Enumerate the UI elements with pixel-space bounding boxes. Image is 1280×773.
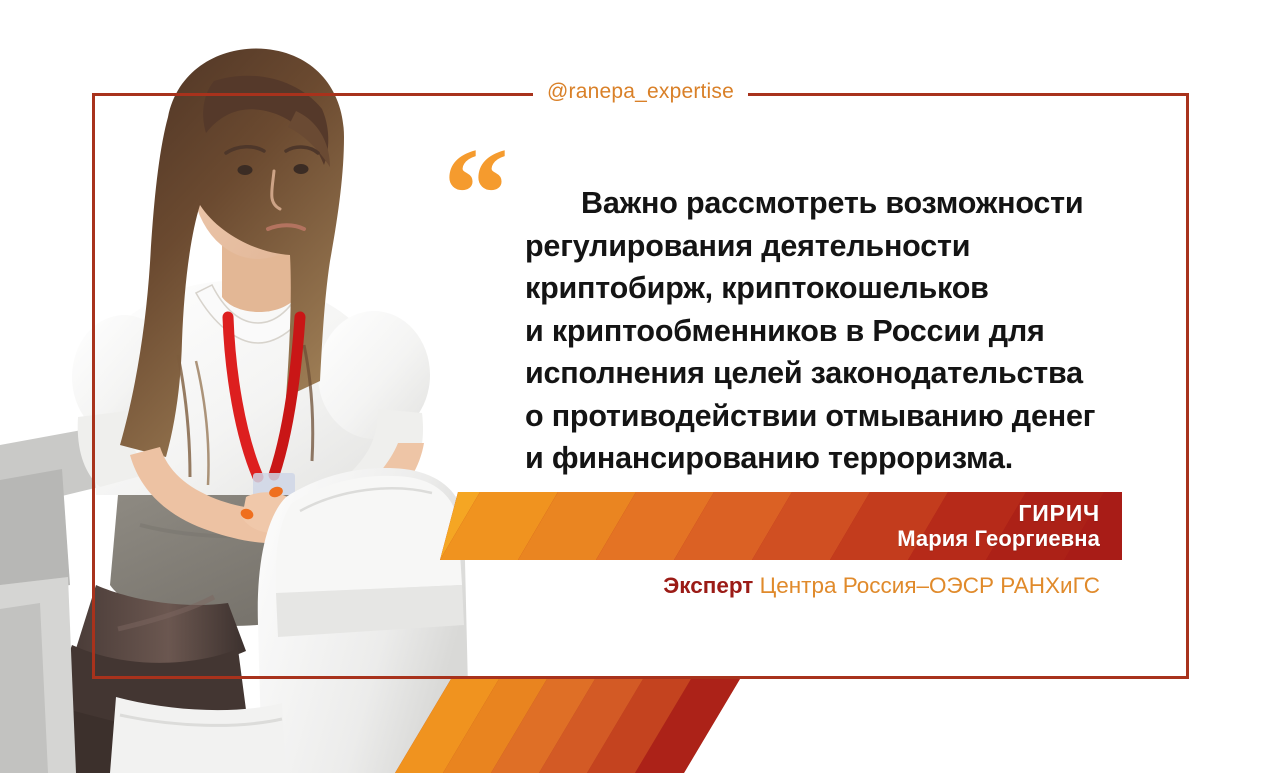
bottom-stripes-graphic [395, 679, 740, 773]
quote-text: Важно рассмотреть возможности регулирова… [525, 182, 1145, 480]
speaker-title: Эксперт Центра Россия–ОЭСР РАНХиГС [440, 573, 1100, 599]
speaker-photo-illustration [0, 25, 470, 773]
frame-border-top-right [748, 93, 1189, 96]
speaker-name-block: ГИРИЧ Мария Георгиевна [897, 500, 1100, 552]
quote-line-3: криптобирж, криптокошельков [525, 271, 989, 305]
quote-line-4: и криптообменников в России для [525, 314, 1045, 348]
bottom-decorative-stripes [395, 679, 740, 773]
quote-card: @ranepa_expertise “ Важно рассмотреть во… [0, 0, 1280, 773]
speaker-role: Эксперт [663, 573, 753, 598]
quote-line-2: регулирования деятельности [525, 229, 970, 263]
speaker-name-banner: ГИРИЧ Мария Георгиевна [440, 492, 1122, 560]
speaker-surname: ГИРИЧ [897, 500, 1100, 526]
quote-line-6: о противодействии отмыванию денег [525, 399, 1095, 433]
frame-border-right [1186, 93, 1189, 679]
speaker-organization: Центра Россия–ОЭСР РАНХиГС [760, 573, 1100, 598]
quote-line-1: Важно рассмотреть возможности [581, 186, 1083, 220]
quote-line-7: и финансированию терроризма. [525, 441, 1013, 475]
quote-mark-icon: “ [443, 128, 505, 260]
frame-border-top-left [92, 93, 533, 96]
social-handle[interactable]: @ranepa_expertise [533, 80, 748, 104]
quote-line-5: исполнения целей законодательства [525, 356, 1083, 390]
speaker-photo [0, 25, 470, 773]
frame-border-left [92, 93, 95, 679]
speaker-given-name: Мария Георгиевна [897, 526, 1100, 552]
